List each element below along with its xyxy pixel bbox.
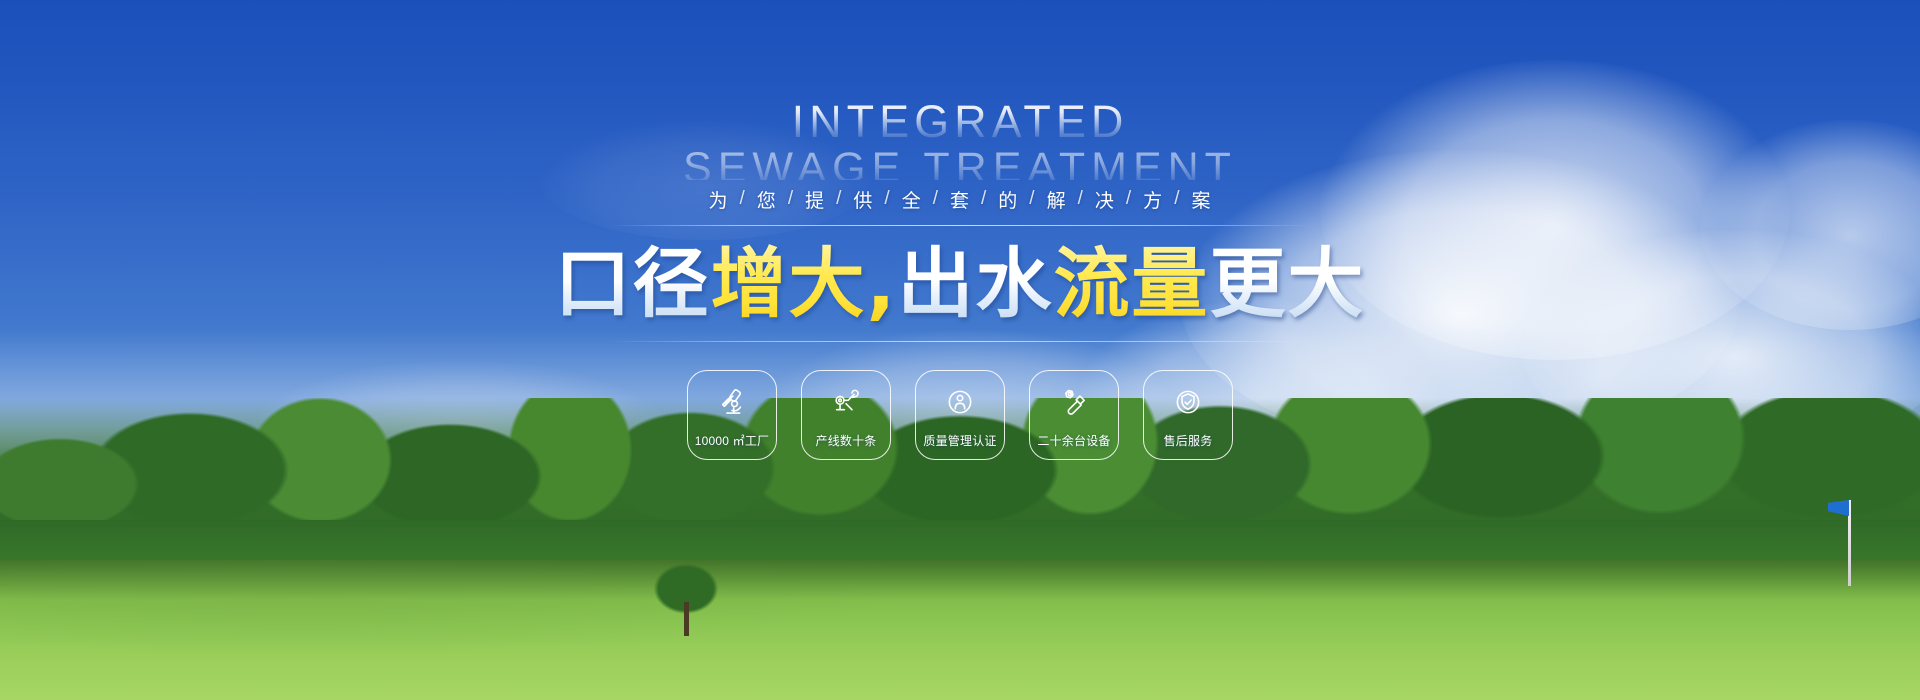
subtitle-char: 您 xyxy=(746,186,788,213)
divider-top xyxy=(610,225,1310,226)
subtitle-row: 为 / 您 / 提 / 供 / 全 / 套 / 的 / 解 / 决 / 方 / … xyxy=(698,186,1223,213)
feature-badges: 10000 ㎡工厂 产线数十条 xyxy=(687,370,1233,460)
headline-segment: 出水 xyxy=(897,239,1053,328)
subtitle-separator: / xyxy=(836,188,842,210)
production-line-icon xyxy=(829,385,863,419)
english-heading-line2: SEWAGE TREATMENT xyxy=(580,145,1340,180)
feature-badge-label: 10000 ㎡工厂 xyxy=(695,432,770,449)
subtitle-separator: / xyxy=(1126,188,1132,210)
headline-segment: 增大, xyxy=(711,239,898,328)
subtitle-char: 方 xyxy=(1132,186,1174,213)
feature-badge-label: 质量管理认证 xyxy=(923,432,996,449)
bolt-wrench-icon xyxy=(1057,385,1091,419)
shield-check-icon xyxy=(1171,385,1205,419)
subtitle-separator: / xyxy=(933,188,939,210)
subtitle-separator: / xyxy=(1029,188,1035,210)
subtitle-separator: / xyxy=(981,188,987,210)
subtitle-char: 全 xyxy=(891,186,933,213)
subtitle-char: 案 xyxy=(1180,186,1222,213)
subtitle-char: 为 xyxy=(698,186,740,213)
headline-segment: 口径 xyxy=(555,239,711,328)
certified-person-icon xyxy=(943,385,977,419)
feature-badge-after-sales[interactable]: 售后服务 xyxy=(1143,370,1233,460)
feature-badge-equipment[interactable]: 二十余台设备 xyxy=(1029,370,1119,460)
subtitle-separator: / xyxy=(1174,188,1180,210)
english-headings: INTEGRATED SEWAGE TREATMENT xyxy=(580,98,1340,180)
subtitle-char: 套 xyxy=(939,186,981,213)
subtitle-char: 供 xyxy=(842,186,884,213)
banner-content: INTEGRATED SEWAGE TREATMENT 为 / 您 / 提 / … xyxy=(0,0,1920,700)
feature-badge-quality-certification[interactable]: 质量管理认证 xyxy=(915,370,1005,460)
subtitle-separator: / xyxy=(788,188,794,210)
headline: 口径增大,出水流量更大 xyxy=(555,244,1366,325)
feature-badge-label: 产线数十条 xyxy=(815,432,876,449)
english-heading-line1: INTEGRATED xyxy=(580,98,1340,145)
subtitle-separator: / xyxy=(740,188,746,210)
subtitle-separator: / xyxy=(1078,188,1084,210)
subtitle-char: 提 xyxy=(794,186,836,213)
microscope-icon xyxy=(715,385,749,419)
feature-badge-factory[interactable]: 10000 ㎡工厂 xyxy=(687,370,777,460)
divider-bottom xyxy=(610,341,1310,342)
hero-banner: INTEGRATED SEWAGE TREATMENT 为 / 您 / 提 / … xyxy=(0,0,1920,700)
subtitle-char: 决 xyxy=(1084,186,1126,213)
headline-segment: 更大 xyxy=(1209,239,1365,328)
subtitle-separator: / xyxy=(884,188,890,210)
feature-badge-label: 二十余台设备 xyxy=(1037,432,1110,449)
headline-segment: 流量 xyxy=(1053,239,1209,328)
subtitle-char: 解 xyxy=(1036,186,1078,213)
subtitle-char: 的 xyxy=(987,186,1029,213)
feature-badge-label: 售后服务 xyxy=(1164,432,1213,449)
feature-badge-production-lines[interactable]: 产线数十条 xyxy=(801,370,891,460)
